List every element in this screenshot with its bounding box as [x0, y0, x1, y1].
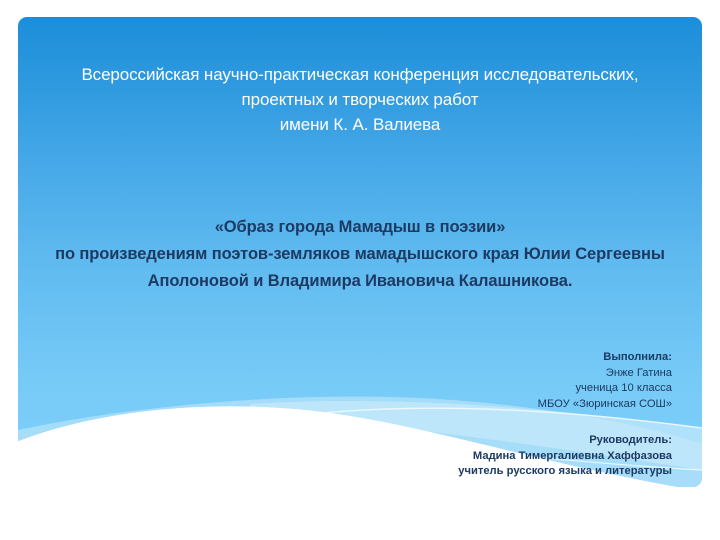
supervisor-name: Мадина Тимергалиевна Хаффазова	[252, 449, 672, 465]
work-title-line-2: по произведениям поэтов-земляков мамадыш…	[26, 241, 694, 295]
supervisor-position: учитель русского языка и литературы	[252, 464, 672, 480]
supervisor-role-label: Руководитель:	[252, 433, 672, 449]
work-title-line-1: «Образ города Мамадыш в поэзии»	[26, 214, 694, 241]
supervisor-block: Руководитель: Мадина Тимергалиевна Хаффа…	[252, 433, 672, 480]
author-name: Энже Гатина	[252, 366, 672, 382]
work-title: «Образ города Мамадыш в поэзии» по произ…	[26, 214, 694, 295]
author-school: МБОУ «Зюринская СОШ»	[252, 397, 672, 413]
author-block: Выполнила: Энже Гатина ученица 10 класса…	[252, 350, 672, 412]
author-grade: ученица 10 класса	[252, 381, 672, 397]
conference-title: Всероссийская научно-практическая конфер…	[40, 62, 680, 137]
author-role-label: Выполнила:	[252, 350, 672, 366]
presentation-slide: Всероссийская научно-практическая конфер…	[0, 0, 720, 540]
